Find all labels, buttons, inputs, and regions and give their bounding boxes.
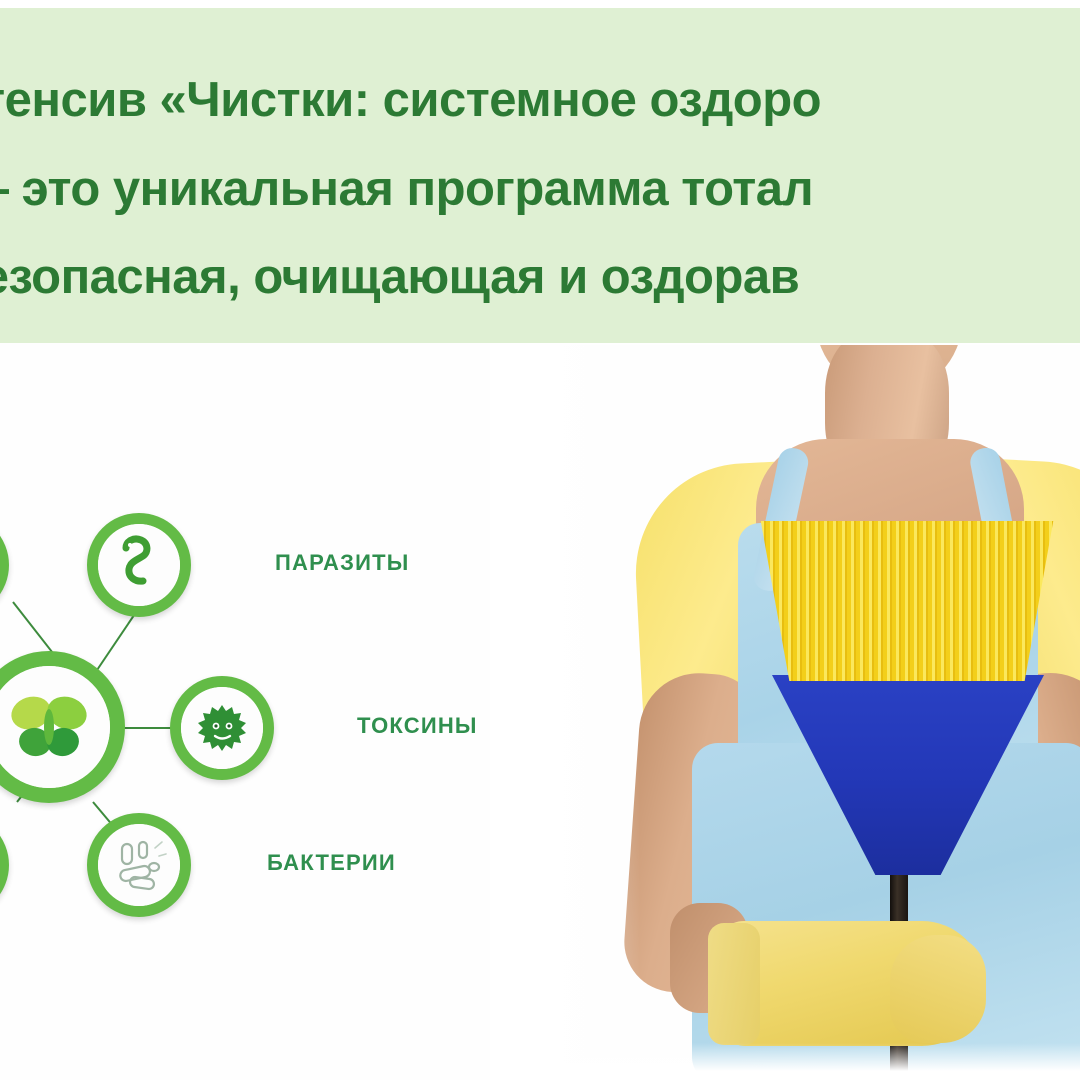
banner-line-2: — это уникальная программа тотал	[0, 165, 813, 214]
infographic-node-toxins[interactable]	[170, 676, 274, 780]
infographic-node-germ[interactable]	[0, 813, 9, 917]
bottom-fade-mask	[520, 1043, 1080, 1080]
photo-area: ПАРАЗИТЫ ТОКСИНЫ БАКТЕРИИ	[0, 343, 1080, 1080]
label-parasites: ПАРАЗИТЫ	[275, 550, 410, 576]
banner-line-1: нтенсив «Чистки: системное оздоро	[0, 76, 821, 125]
glove-fingers	[890, 935, 986, 1043]
worm-icon	[98, 524, 180, 606]
infographic-node-parasites[interactable]	[87, 513, 191, 617]
banner-text-block: нтенсив «Чистки: системное оздоро — это …	[0, 8, 1080, 343]
header-banner: нтенсив «Чистки: системное оздоро — это …	[0, 8, 1080, 343]
label-toxins: ТОКСИНЫ	[357, 713, 478, 739]
bacteria-rods-icon	[98, 824, 180, 906]
connector-line	[92, 614, 135, 676]
label-bacteria: БАКТЕРИИ	[267, 850, 396, 876]
infographic-node-center[interactable]	[0, 651, 125, 803]
broom-bristles	[748, 521, 1066, 681]
glove-cuff	[708, 923, 760, 1045]
connector-line	[123, 727, 175, 729]
woman-with-broom-photo	[520, 343, 1080, 1080]
contaminants-infographic: ПАРАЗИТЫ ТОКСИНЫ БАКТЕРИИ	[0, 503, 465, 933]
banner-line-3: безопасная, очищающая и оздорав	[0, 253, 799, 302]
infographic-node-virus[interactable]	[0, 513, 9, 617]
left-fade-mask	[490, 343, 640, 1080]
butterfly-icon	[0, 666, 110, 788]
promo-image-root: нтенсив «Чистки: системное оздоро — это …	[0, 0, 1080, 1080]
infographic-node-bacteria[interactable]	[87, 813, 191, 917]
toxin-monster-icon	[181, 687, 263, 769]
